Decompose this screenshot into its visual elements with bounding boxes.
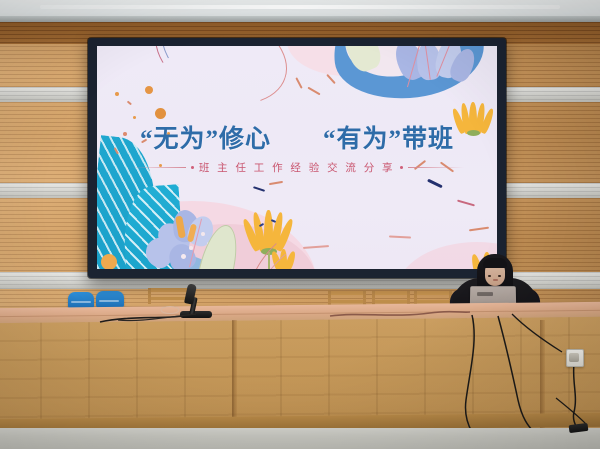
floor <box>0 428 600 449</box>
desk-cable <box>330 312 470 316</box>
cable-coil <box>161 307 179 314</box>
conference-room-scene: “无为”修心 “有为”带班 班 主 任 工 作 经 验 交 流 分 享 <box>0 0 600 449</box>
outlet-cable-upper <box>512 314 562 352</box>
laptop-av-cable <box>498 316 534 432</box>
floor-cable <box>556 398 586 424</box>
laptop-power-cable <box>465 315 474 432</box>
outlet-plug <box>569 353 579 362</box>
cable-group <box>0 0 600 449</box>
outlet-cable-down <box>573 364 578 430</box>
